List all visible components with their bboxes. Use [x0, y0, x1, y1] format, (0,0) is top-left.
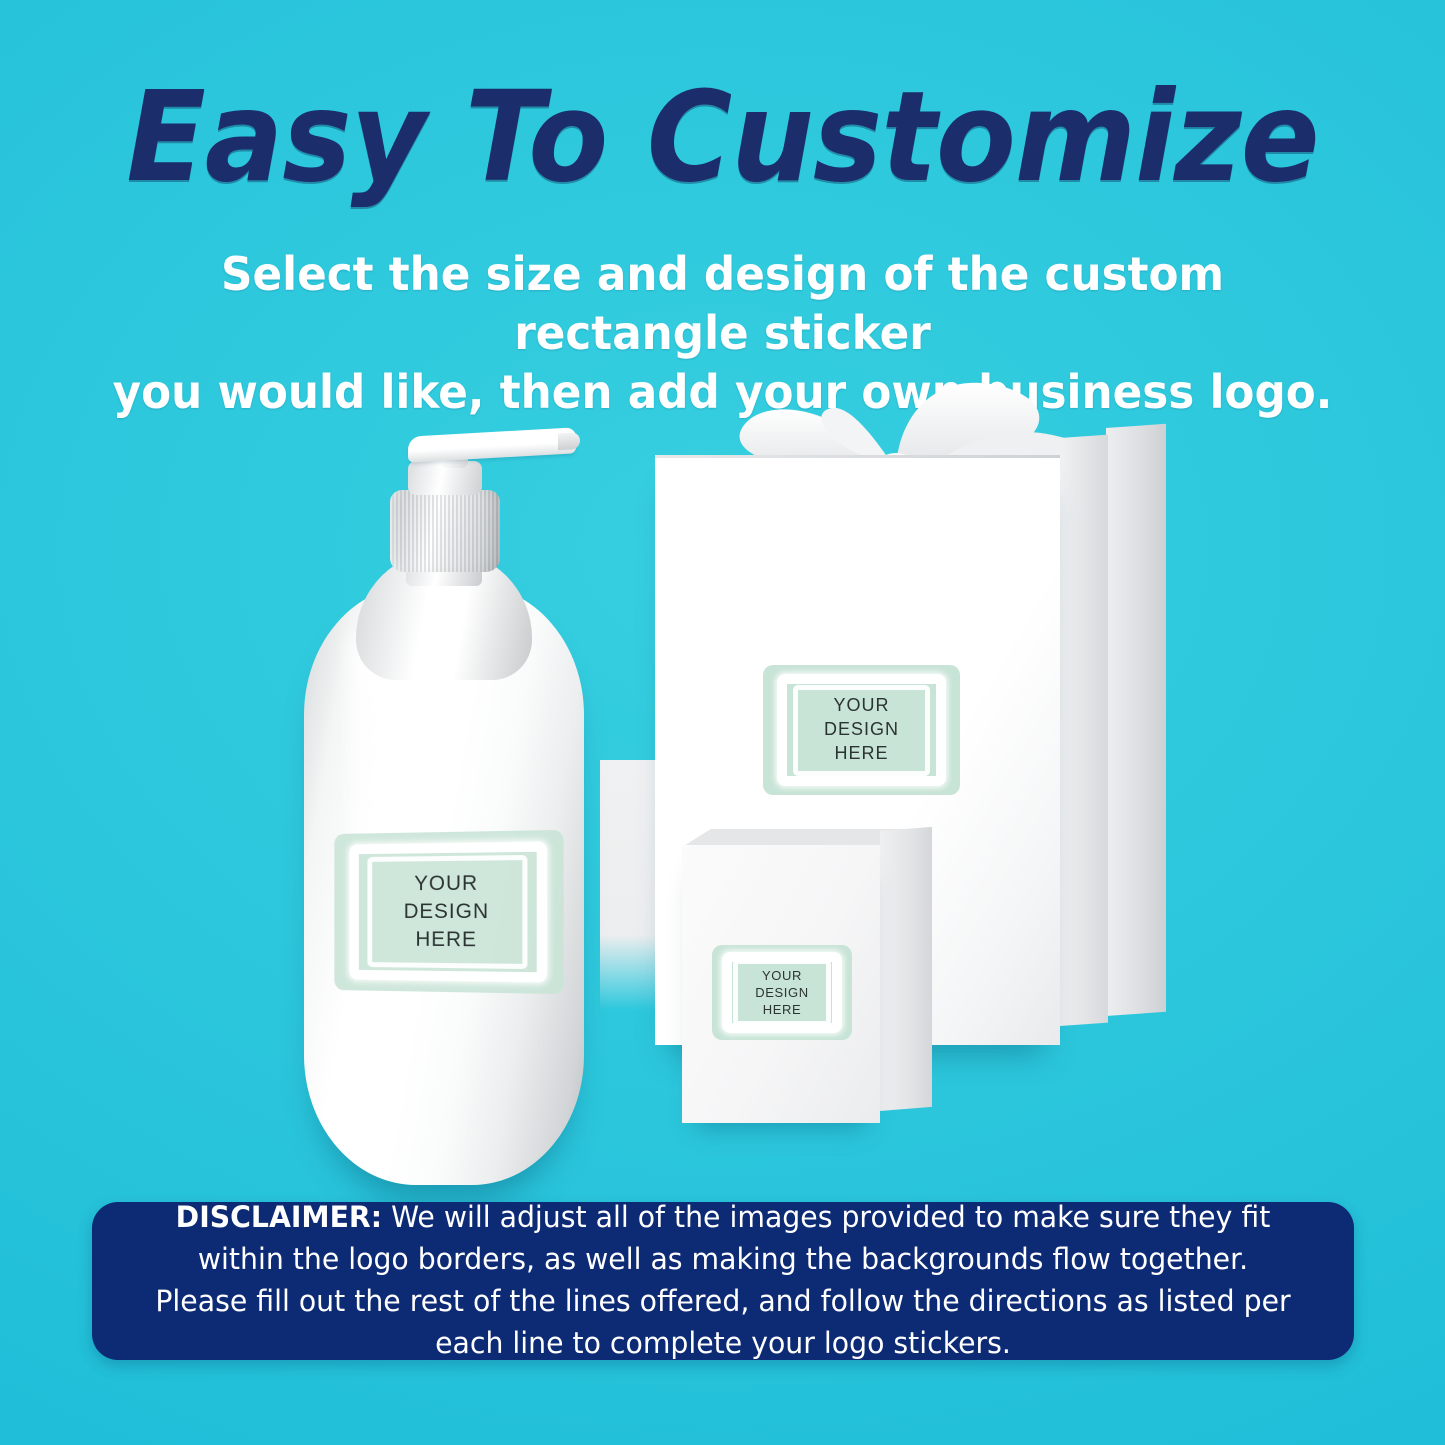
disclaimer-label: DISCLAIMER: [176, 1200, 382, 1234]
sticker-line-3: HERE [415, 926, 477, 954]
page-title: Easy To Customize [51, 72, 1395, 203]
sticker-text: YOUR DESIGN HERE [334, 830, 563, 994]
small-box-side-panel [880, 827, 932, 1111]
gift-box-side-panel [1060, 435, 1108, 1026]
sticker-line-1: YOUR [833, 694, 889, 718]
sticker-text: YOUR DESIGN HERE [712, 945, 852, 1040]
bottle-sticker-label: YOUR DESIGN HERE [334, 830, 563, 994]
small-box-sticker-label: YOUR DESIGN HERE [712, 945, 852, 1040]
gift-box-back-panel [1106, 424, 1166, 1016]
disclaimer-banner: DISCLAIMER: We will adjust all of the im… [92, 1202, 1354, 1360]
pump-nozzle-icon [408, 427, 576, 462]
sticker-line-3: HERE [763, 1001, 802, 1018]
promo-banner: Easy To Customize Select the size and de… [0, 0, 1445, 1445]
gift-box-sticker-label: YOUR DESIGN HERE [763, 665, 960, 795]
pump-bottle: YOUR DESIGN HERE [296, 430, 596, 1190]
sticker-line-2: DESIGN [824, 718, 899, 742]
gift-box-lid-line [655, 455, 1060, 458]
sticker-line-2: DESIGN [404, 898, 489, 926]
disclaimer-text: DISCLAIMER: We will adjust all of the im… [117, 1197, 1329, 1365]
sticker-line-1: YOUR [762, 967, 802, 984]
sticker-line-3: HERE [834, 742, 888, 766]
subtitle-line-1: Select the size and design of the custom… [103, 245, 1343, 363]
product-scene: YOUR DESIGN HERE [0, 380, 1445, 1180]
sticker-line-2: DESIGN [755, 984, 808, 1001]
small-box: YOUR DESIGN HERE [660, 845, 970, 1155]
pump-collar-icon [390, 490, 500, 572]
sticker-text: YOUR DESIGN HERE [763, 665, 960, 795]
sticker-line-1: YOUR [414, 870, 478, 898]
